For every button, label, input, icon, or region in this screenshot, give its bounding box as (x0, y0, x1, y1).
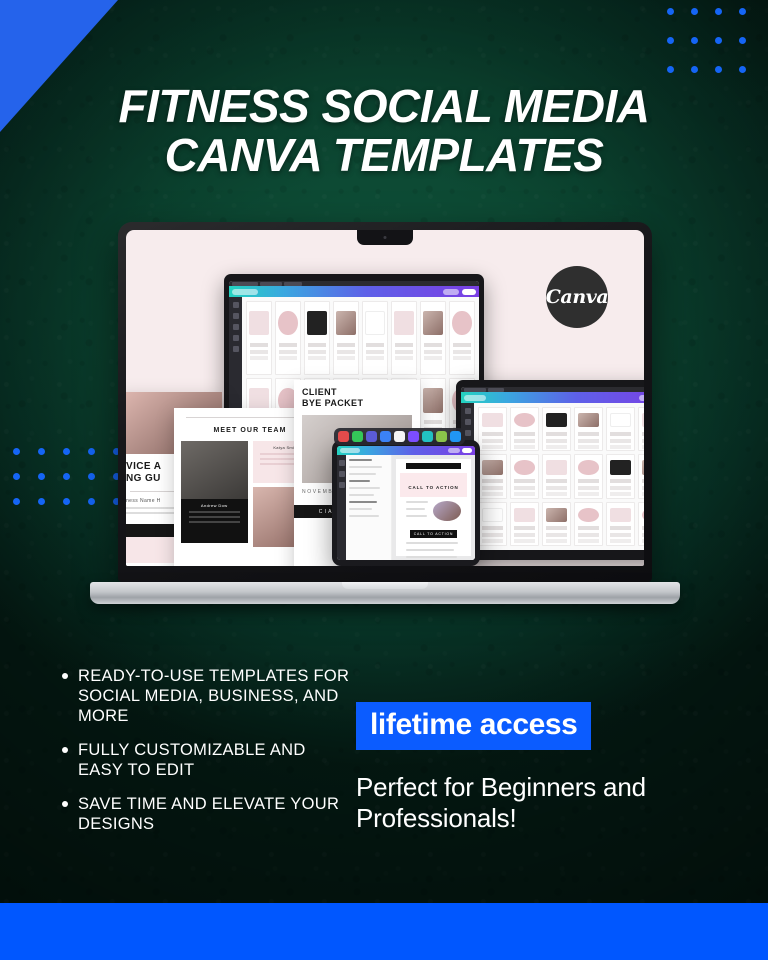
rail-icon-uploads[interactable] (465, 430, 471, 436)
dot-grid-left (4, 448, 129, 523)
decor-dot (691, 37, 698, 44)
decor-dot (88, 473, 95, 480)
template-thumbnail[interactable] (362, 301, 388, 375)
decor-dot (63, 473, 70, 480)
bullet-icon (62, 673, 68, 679)
decor-dot (13, 448, 20, 455)
tablet-layers-panel (346, 455, 392, 560)
dock-icon-6[interactable] (408, 431, 419, 442)
team-photo-1 (181, 441, 248, 499)
canva-primary-button[interactable] (462, 289, 476, 295)
template-thumbnail[interactable] (638, 502, 644, 546)
promo-poster: FITNESS SOCIAL MEDIA CANVA TEMPLATES Can… (0, 0, 768, 960)
camera-icon (384, 236, 387, 239)
tablet-side-rail (337, 455, 346, 560)
feature-list: READY-TO-USE TEMPLATES FOR SOCIAL MEDIA,… (62, 666, 352, 848)
tablet-frame: CALL TO ACTION (332, 440, 480, 566)
laptop-screen: Canva (126, 230, 644, 566)
feature-text: READY-TO-USE TEMPLATES FOR SOCIAL MEDIA,… (78, 666, 352, 726)
laptop-notch (357, 230, 413, 245)
cta-button[interactable]: CALL TO ACTION (410, 530, 457, 538)
canva-share-control[interactable] (448, 448, 460, 453)
cta-document: CALL TO ACTION (396, 459, 471, 556)
dock-icon-7[interactable] (422, 431, 433, 442)
decor-dot (715, 8, 722, 15)
feature-item: SAVE TIME AND ELEVATE YOUR DESIGNS (62, 794, 352, 834)
template-thumbnail[interactable] (606, 407, 635, 451)
canva-share-control[interactable] (639, 395, 644, 401)
rail-icon-text[interactable] (233, 335, 239, 341)
browser-tab[interactable] (260, 282, 282, 286)
canva-menu-item[interactable] (464, 395, 486, 401)
template-thumbnail[interactable] (478, 502, 507, 546)
promo-subtitle: Perfect for Beginners and Professionals! (356, 772, 676, 834)
template-thumbnail[interactable] (574, 454, 603, 498)
bottom-accent-bar (0, 903, 768, 960)
canva-logo-text: Canva (546, 286, 609, 308)
decor-dot (667, 8, 674, 15)
browser-tab[interactable] (464, 388, 486, 392)
decor-dot (13, 473, 20, 480)
laptop-base (90, 582, 680, 604)
decor-dot (667, 66, 674, 73)
rail-icon-elements[interactable] (465, 419, 471, 425)
rail-icon-templates[interactable] (465, 408, 471, 414)
template-thumbnail[interactable] (449, 301, 475, 375)
browser-tab[interactable] (284, 282, 302, 286)
dock-icon-3[interactable] (366, 431, 377, 442)
template-thumbnail[interactable] (510, 502, 539, 546)
tablet-screen: CALL TO ACTION (337, 446, 475, 560)
canva-window-secondary (456, 380, 644, 560)
decor-dot (715, 37, 722, 44)
decor-dot (691, 66, 698, 73)
laptop-mockup: Canva (118, 222, 652, 582)
secondary-window-frame (456, 380, 644, 560)
template-thumbnail[interactable] (574, 407, 603, 451)
packet-title-line1: CLIENT (294, 380, 420, 398)
team-bio-1: Andrew Dow (181, 499, 248, 543)
template-thumbnail[interactable] (420, 301, 446, 375)
cta-image (433, 501, 461, 521)
tablet-mockup: CALL TO ACTION (332, 440, 480, 566)
rail-icon-elements[interactable] (339, 471, 345, 477)
tablet-workspace: CALL TO ACTION (337, 455, 475, 560)
canva-header-bar-secondary (461, 392, 644, 403)
template-thumbnail[interactable] (542, 502, 571, 546)
decor-dot (739, 8, 746, 15)
canva-workspace-secondary (461, 403, 644, 550)
decor-dot (63, 448, 70, 455)
team-name-1: Andrew Dow (185, 503, 244, 508)
template-thumbnail[interactable] (391, 301, 417, 375)
dock-icon-2[interactable] (352, 431, 363, 442)
decor-dot (38, 498, 45, 505)
dock-icon-4[interactable] (380, 431, 391, 442)
template-thumbnail[interactable] (542, 407, 571, 451)
canva-menu-item[interactable] (340, 448, 360, 453)
laptop-lid: Canva (118, 222, 652, 582)
rail-icon-text[interactable] (339, 482, 345, 488)
team-member-1: Andrew Dow (181, 441, 248, 547)
promo-block: lifetime access Perfect for Beginners an… (356, 702, 676, 834)
feature-text: FULLY CUSTOMIZABLE AND EASY TO EDIT (78, 740, 352, 780)
decor-dot (667, 37, 674, 44)
rail-icon-more[interactable] (233, 346, 239, 352)
template-thumbnail[interactable] (333, 301, 359, 375)
decor-dot (63, 498, 70, 505)
template-thumbnail[interactable] (510, 454, 539, 498)
dock-icon-8[interactable] (436, 431, 447, 442)
cta-top-bar (406, 463, 461, 469)
tablet-canvas: CALL TO ACTION (392, 455, 475, 560)
rail-icon-elements[interactable] (233, 313, 239, 319)
template-thumbnail[interactable] (542, 454, 571, 498)
secondary-window-screen (461, 387, 644, 550)
template-thumbnail[interactable] (638, 454, 644, 498)
template-thumbnail[interactable] (638, 407, 644, 451)
cta-title-band: CALL TO ACTION (400, 473, 467, 497)
dock-icon-1[interactable] (338, 431, 349, 442)
canva-menu-item[interactable] (232, 289, 258, 295)
browser-tab[interactable] (488, 388, 504, 392)
decor-dot (739, 37, 746, 44)
title-line-2: CANVA TEMPLATES (40, 131, 728, 180)
packet-title-line2: BYE PACKET (294, 398, 420, 409)
canva-header-bar (229, 286, 479, 297)
bullet-icon (62, 801, 68, 807)
rail-icon-templates[interactable] (339, 460, 345, 466)
title-line-1: FITNESS SOCIAL MEDIA (40, 82, 728, 131)
cta-title: CALL TO ACTION (408, 485, 458, 490)
decor-dot (88, 498, 95, 505)
decor-dot (38, 448, 45, 455)
decor-dot (38, 473, 45, 480)
canva-logo: Canva (546, 266, 608, 328)
rail-icon-templates[interactable] (233, 302, 239, 308)
template-thumbnail[interactable] (606, 454, 635, 498)
lifetime-access-badge: lifetime access (356, 702, 591, 750)
decor-dot (715, 66, 722, 73)
template-thumbnail[interactable] (478, 407, 507, 451)
browser-tab[interactable] (232, 282, 258, 286)
template-thumbnail[interactable] (246, 301, 272, 375)
lifetime-access-label: lifetime access (370, 708, 577, 741)
tablet-canva-header (337, 446, 475, 455)
dock-icon-9[interactable] (450, 431, 461, 442)
feature-item: FULLY CUSTOMIZABLE AND EASY TO EDIT (62, 740, 352, 780)
feature-text: SAVE TIME AND ELEVATE YOUR DESIGNS (78, 794, 352, 834)
template-thumbnail[interactable] (478, 454, 507, 498)
feature-item: READY-TO-USE TEMPLATES FOR SOCIAL MEDIA,… (62, 666, 352, 726)
template-grid-secondary (474, 403, 644, 550)
laptop-base-notch (342, 582, 428, 589)
template-thumbnail[interactable] (275, 301, 301, 375)
decor-dot (739, 66, 746, 73)
decor-dot (88, 448, 95, 455)
bullet-icon (62, 747, 68, 753)
template-thumbnail[interactable] (574, 502, 603, 546)
macos-dock (334, 428, 465, 445)
cta-button-label: CALL TO ACTION (414, 532, 454, 536)
rail-icon-uploads[interactable] (233, 324, 239, 330)
template-thumbnail[interactable] (304, 301, 330, 375)
template-thumbnail[interactable] (606, 502, 635, 546)
canva-primary-button[interactable] (462, 448, 472, 453)
decor-dot (691, 8, 698, 15)
template-thumbnail[interactable] (510, 407, 539, 451)
decor-dot (13, 498, 20, 505)
dock-icon-5[interactable] (394, 431, 405, 442)
canva-share-control[interactable] (443, 289, 459, 295)
page-title: FITNESS SOCIAL MEDIA CANVA TEMPLATES (0, 82, 768, 180)
